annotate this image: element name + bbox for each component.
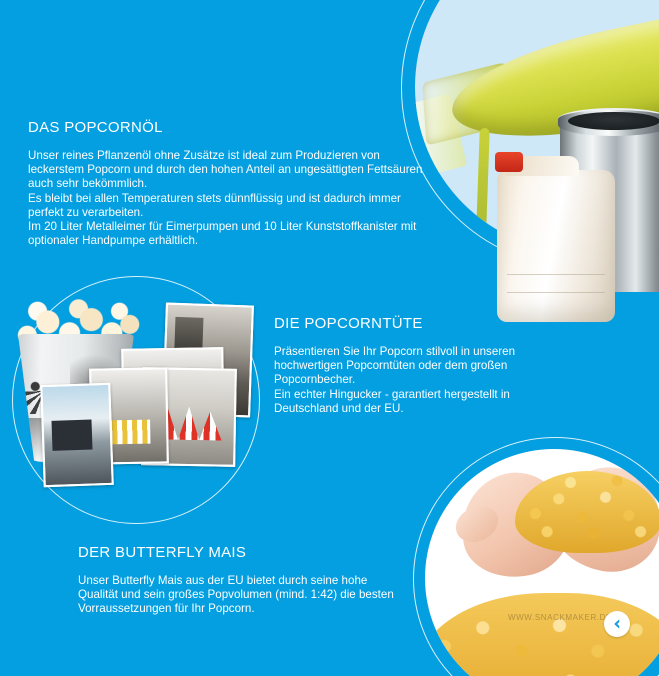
section-body-popcorn-bag: Präsentieren Sie Ihr Popcorn stilvoll in…: [274, 345, 544, 416]
canister-seam: [507, 274, 605, 275]
section-heading-popcorn-bag: DIE POPCORNTÜTE: [274, 315, 544, 332]
canister-seam: [507, 292, 605, 293]
section-popcorn-oil: DAS POPCORNÖL Unser reines Pflanzenöl oh…: [28, 119, 428, 248]
previous-slide-button[interactable]: [604, 611, 630, 637]
section-body-popcorn-oil: Unser reines Pflanzenöl ohne Zusätze ist…: [28, 149, 428, 248]
section-heading-butterfly-corn: DER BUTTERFLY MAIS: [78, 544, 408, 561]
chevron-left-icon: [611, 618, 623, 630]
plastic-canister-image: [497, 170, 615, 322]
brochure-page: WWW.SNACKMAKER.DE DAS POPCORNÖL Unser re…: [0, 0, 659, 676]
corn-hands-image: [425, 449, 659, 676]
card-art-cinema-marquee: [51, 419, 92, 450]
popcorn-bucket-image: [12, 276, 258, 522]
section-popcorn-bag: DIE POPCORNTÜTE Präsentieren Sie Ihr Pop…: [274, 315, 544, 416]
watermark-text: WWW.SNACKMAKER.DE: [508, 613, 618, 622]
oil-stream: [474, 128, 490, 252]
vintage-photo-card: [40, 383, 114, 487]
hands-holding-corn: [461, 455, 659, 593]
section-butterfly-corn: DER BUTTERFLY MAIS Unser Butterfly Mais …: [78, 544, 408, 617]
section-body-butterfly-corn: Unser Butterfly Mais aus der EU bietet d…: [78, 574, 408, 617]
section-heading-popcorn-oil: DAS POPCORNÖL: [28, 119, 428, 136]
canister-cap: [495, 152, 523, 172]
bucket-inner: [568, 112, 659, 130]
